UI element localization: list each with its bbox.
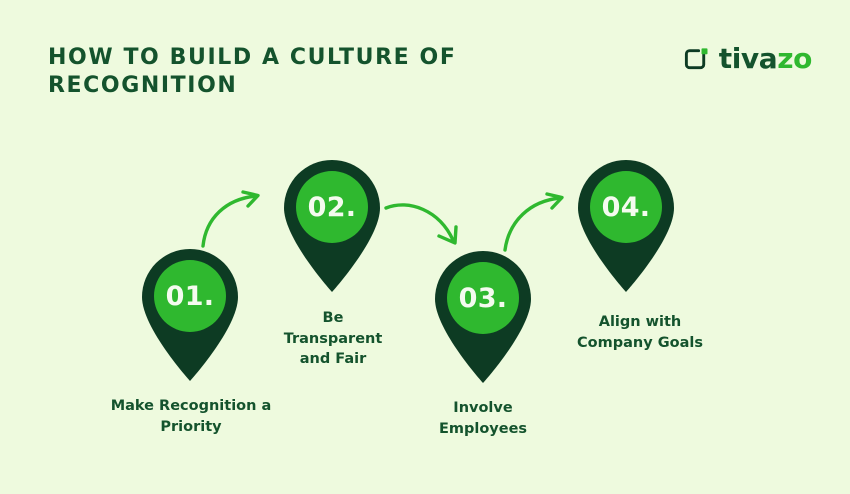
step-label-4: Align with Company Goals xyxy=(545,312,735,353)
step-pin-2[interactable]: 02. xyxy=(276,153,388,293)
brand-logo-text: tivazo xyxy=(719,45,812,73)
step-label-2: Be Transparent and Fair xyxy=(243,308,423,370)
infographic-canvas: How to Build a Culture of Recognition ti… xyxy=(0,0,850,494)
bracket-square-icon xyxy=(683,46,710,73)
step-label-1: Make Recognition a Priority xyxy=(80,396,302,437)
step-pin-3[interactable]: 03. xyxy=(427,244,539,384)
brand-name-accent: zo xyxy=(777,42,812,75)
map-pin-icon xyxy=(276,153,388,293)
page-title: How to Build a Culture of Recognition xyxy=(48,44,518,99)
brand-name-primary: tiva xyxy=(719,42,778,75)
map-pin-icon xyxy=(134,242,246,382)
step-label-3: Involve Employees xyxy=(400,398,566,439)
map-pin-icon xyxy=(427,244,539,384)
step-pin-1[interactable]: 01. xyxy=(134,242,246,382)
arrow-step-1-to-2 xyxy=(198,188,272,250)
step-pin-4[interactable]: 04. xyxy=(570,153,682,293)
brand-logo[interactable]: tivazo xyxy=(683,44,812,73)
map-pin-icon xyxy=(570,153,682,293)
